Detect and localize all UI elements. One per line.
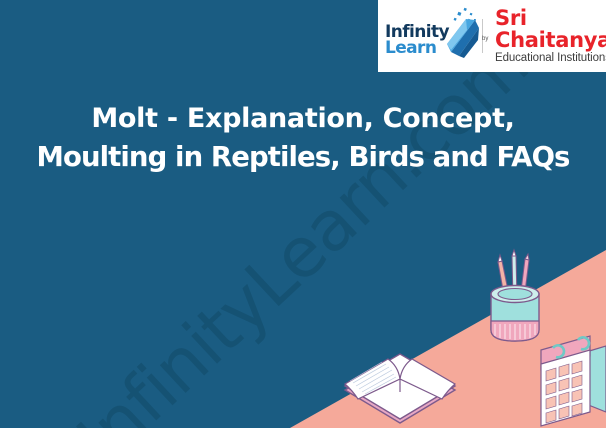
page-title: Molt - Explanation, Concept, Moulting in… xyxy=(0,100,606,176)
watermark-text: InfinityLearn.com xyxy=(54,16,552,428)
rocket-arrow-icon xyxy=(437,6,483,62)
pencil-pink-right xyxy=(520,254,529,300)
sri-chaitanya-logo: Sri Chaitanya Educational Institutions xyxy=(483,8,606,64)
sri-chaitanya-name: Sri Chaitanya xyxy=(495,8,606,51)
brand-logo-panel: Infinity Learn by Sri Chaitanya xyxy=(378,0,606,72)
infinity-learn-word-learn: Learn xyxy=(385,38,436,58)
desk-calendar-icon xyxy=(541,336,606,426)
logo-connector-by: by xyxy=(482,36,488,42)
infinity-learn-logo: Infinity Learn by xyxy=(378,0,482,72)
pencil-cup-icon xyxy=(491,250,539,341)
banner-canvas: InfinityLearn.com xyxy=(0,0,606,428)
open-book-icon xyxy=(345,354,455,423)
pencil-teal-middle xyxy=(512,250,517,300)
page-title-line-1: Molt - Explanation, Concept, xyxy=(0,100,606,138)
page-title-line-2: Moulting in Reptiles, Birds and FAQs xyxy=(0,138,606,176)
sri-chaitanya-subtitle: Educational Institutions xyxy=(495,52,606,64)
pencil-pink-left xyxy=(498,255,510,301)
